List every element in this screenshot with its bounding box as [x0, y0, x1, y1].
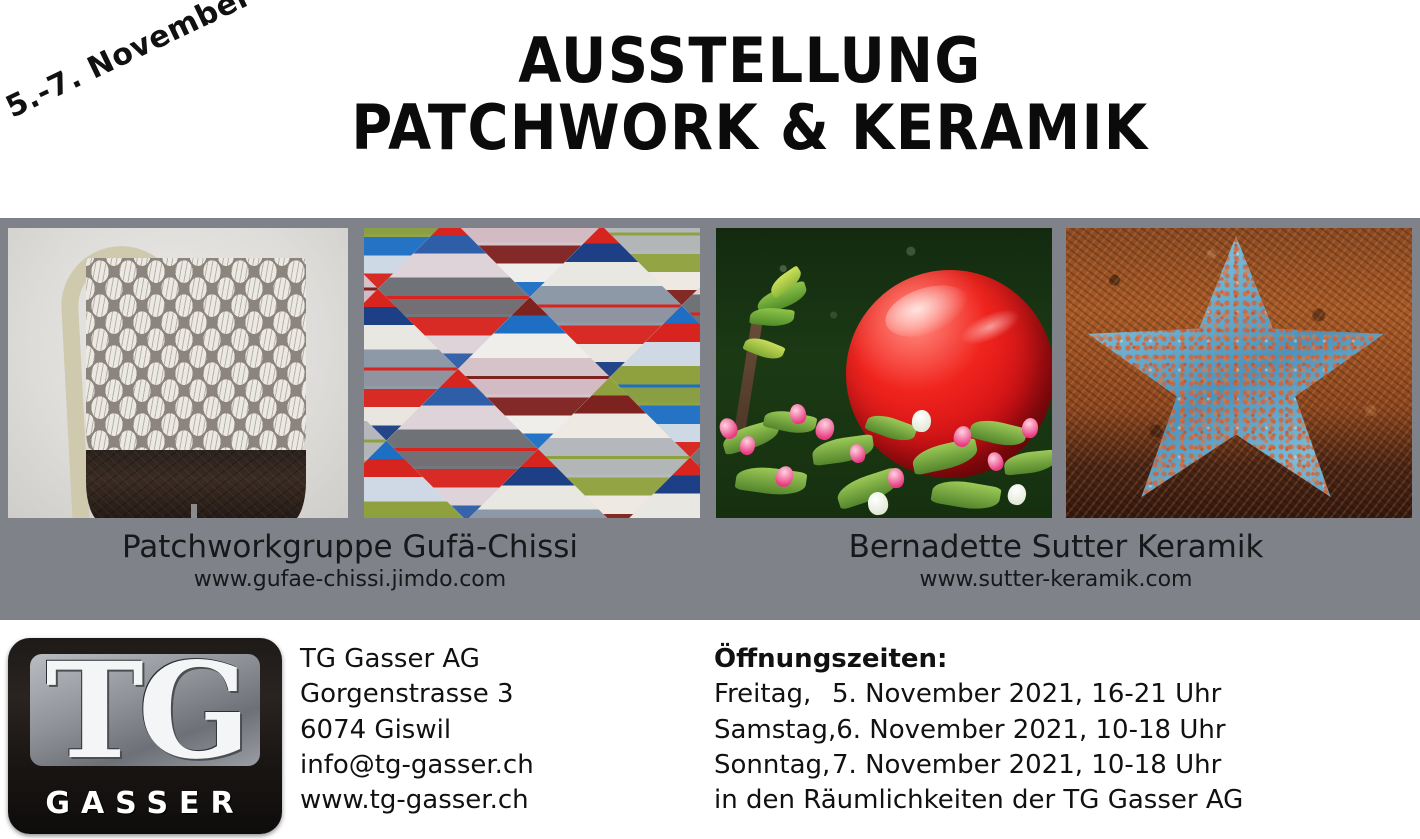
caption-patchwork: Patchworkgruppe Gufä-Chissi www.gufae-ch… [0, 530, 700, 592]
flower-bed [716, 396, 1052, 518]
caption-keramik: Bernadette Sutter Keramik www.sutter-ker… [706, 530, 1406, 592]
gallery-band: Patchworkgruppe Gufä-Chissi www.gufae-ch… [0, 218, 1420, 620]
address-email[interactable]: info@tg-gasser.ch [300, 748, 534, 783]
logo-wordmark: GASSER [8, 786, 282, 821]
photo-captions: Patchworkgruppe Gufä-Chissi www.gufae-ch… [0, 530, 1420, 620]
poster-title: AUSSTELLUNG PATCHWORK & KERAMIK [250, 28, 1250, 163]
poster-header: 5.-7. November 2021 AUSSTELLUNG PATCHWOR… [0, 0, 1420, 218]
caption-patchwork-url[interactable]: www.gufae-chissi.jimdo.com [0, 567, 700, 592]
address-street: Gorgenstrasse 3 [300, 677, 534, 712]
opening-hours-row: Freitag,5. November 2021, 16-21 Uhr [714, 677, 1243, 712]
handbag-patchwork-photo [8, 228, 348, 518]
poster-footer: TG GASSER TG Gasser AG Gorgenstrasse 3 6… [0, 620, 1420, 839]
red-ceramic-ball-photo [716, 228, 1052, 518]
quilt-grid [364, 228, 700, 518]
opening-hours-day: Sonntag, [714, 748, 832, 783]
opening-hours-day: Freitag, [714, 677, 832, 712]
title-line-1: AUSSTELLUNG [250, 28, 1250, 93]
poster: 5.-7. November 2021 AUSSTELLUNG PATCHWOR… [0, 0, 1420, 839]
quilt-surface [364, 228, 700, 518]
opening-hours-day: Samstag, [714, 713, 836, 748]
quilt-photo [364, 228, 700, 518]
opening-hours-detail: 7. November 2021, 10-18 Uhr [832, 750, 1221, 780]
address-city: 6074 Giswil [300, 713, 534, 748]
caption-keramik-name: Bernadette Sutter Keramik [706, 530, 1406, 565]
photo-strip [0, 228, 1420, 518]
address-website[interactable]: www.tg-gasser.ch [300, 783, 534, 818]
tg-gasser-logo: TG GASSER [8, 638, 282, 834]
company-address: TG Gasser AG Gorgenstrasse 3 6074 Giswil… [300, 642, 534, 819]
opening-hours-detail: 5. November 2021, 16-21 Uhr [832, 679, 1221, 709]
handbag-leaf-pattern [86, 258, 306, 458]
opening-hours-detail: 6. November 2021, 10-18 Uhr [836, 715, 1225, 745]
opening-hours-row: Sonntag,7. November 2021, 10-18 Uhr [714, 748, 1243, 783]
opening-hours: Öffnungszeiten: Freitag,5. November 2021… [714, 642, 1243, 819]
handbag-body [86, 258, 306, 458]
address-company: TG Gasser AG [300, 642, 534, 677]
ceramic-star-photo [1066, 228, 1412, 518]
logo-monogram: TG [30, 642, 260, 782]
title-line-2: PATCHWORK & KERAMIK [250, 93, 1250, 162]
opening-hours-row: Samstag,6. November 2021, 10-18 Uhr [714, 713, 1243, 748]
caption-keramik-url[interactable]: www.sutter-keramik.com [706, 567, 1406, 592]
opening-hours-venue: in den Räumlichkeiten der TG Gasser AG [714, 783, 1243, 818]
handbag-stand [191, 504, 197, 518]
caption-patchwork-name: Patchworkgruppe Gufä-Chissi [0, 530, 700, 565]
opening-hours-title: Öffnungszeiten: [714, 642, 1243, 677]
